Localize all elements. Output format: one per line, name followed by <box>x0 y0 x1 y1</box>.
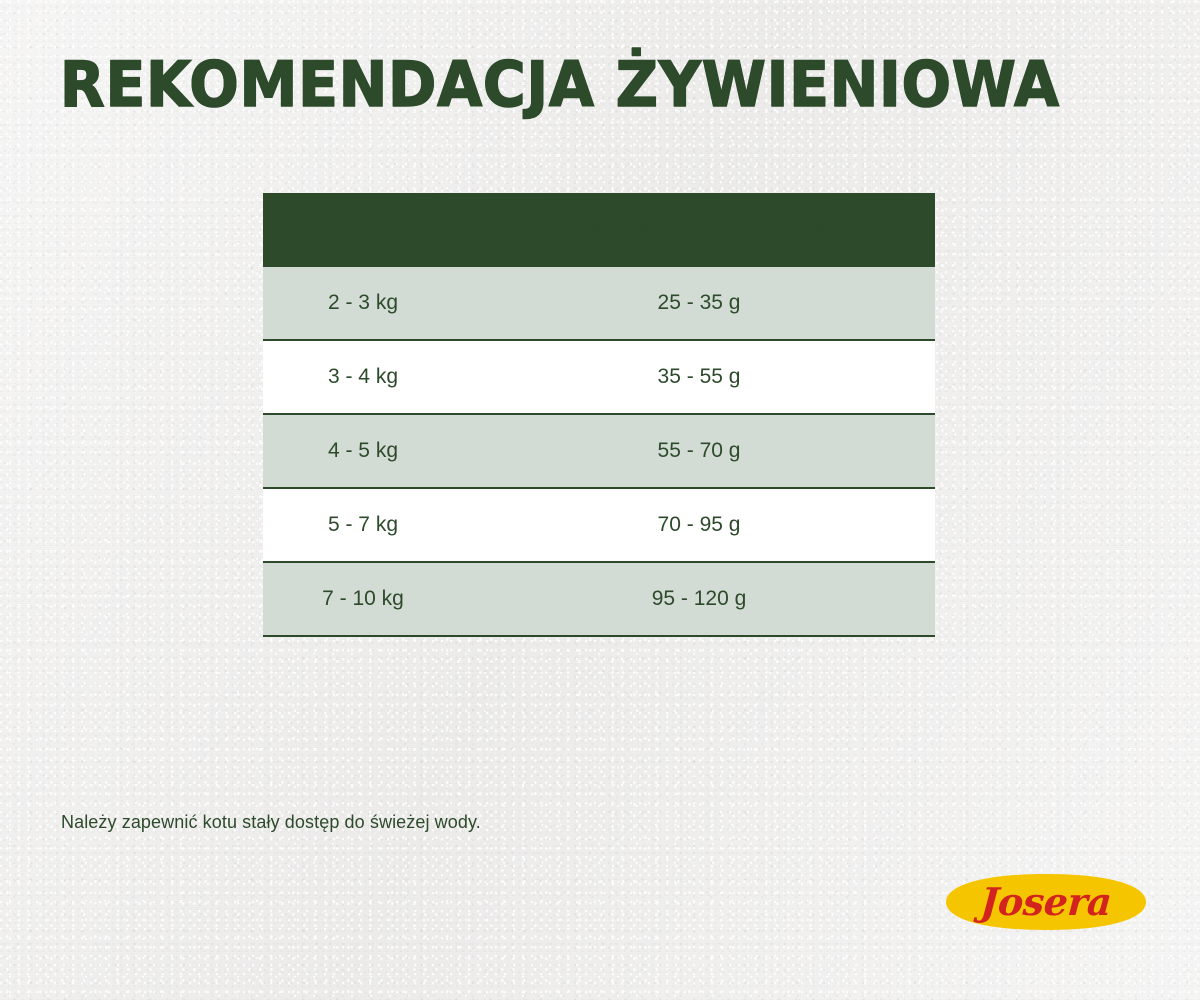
water-access-note: Należy zapewnić kotu stały dostęp do świ… <box>61 812 481 833</box>
cell-dose: 35 - 55 g <box>463 365 935 389</box>
table-row: 2 - 3 kg 25 - 35 g <box>263 267 935 339</box>
cell-weight: 3 - 4 kg <box>263 365 463 389</box>
cell-weight: 2 - 3 kg <box>263 291 463 315</box>
table-row: 4 - 5 kg 55 - 70 g <box>263 415 935 487</box>
cell-weight: 5 - 7 kg <box>263 513 463 537</box>
table-row: 7 - 10 kg 95 - 120 g <box>263 563 935 635</box>
cell-dose: 55 - 70 g <box>463 439 935 463</box>
cell-dose: 70 - 95 g <box>463 513 935 537</box>
feeding-recommendation-table: Waga Dawkowanie NatureCat/ 24 h 2 - 3 kg… <box>263 193 935 637</box>
cell-weight: 4 - 5 kg <box>263 439 463 463</box>
table-header-row: Waga Dawkowanie NatureCat/ 24 h <box>263 193 935 267</box>
josera-wordmark: Josera <box>938 870 1154 934</box>
cell-weight: 7 - 10 kg <box>263 587 463 611</box>
cell-dose: 25 - 35 g <box>463 291 935 315</box>
page-title: REKOMENDACJA ŻYWIENIOWA <box>60 46 902 124</box>
table-bottom-border <box>263 635 935 637</box>
cell-dose: 95 - 120 g <box>463 587 935 611</box>
table-row: 3 - 4 kg 35 - 55 g <box>263 341 935 413</box>
column-header-weight: Waga <box>263 218 463 242</box>
table-row: 5 - 7 kg 70 - 95 g <box>263 489 935 561</box>
josera-logo: Josera <box>940 870 1152 934</box>
column-header-dose: Dawkowanie NatureCat/ 24 h <box>463 218 935 242</box>
